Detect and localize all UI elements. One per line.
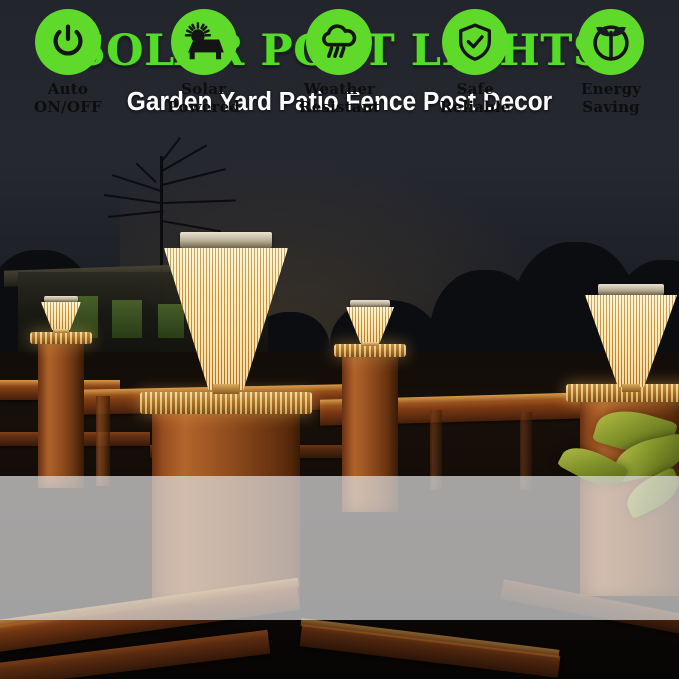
leaf-sprout-icon: [578, 9, 644, 75]
feature-label-line2: Reliable: [440, 98, 510, 116]
feature-label-line2: Powered: [167, 98, 240, 116]
feature-label-weather-resistant: Weather Resistant: [299, 80, 380, 117]
fence-post-left: [38, 338, 84, 488]
feature-solar-powered: Solar Powered: [136, 0, 272, 144]
feature-banner: [0, 476, 679, 620]
shield-check-icon: [442, 9, 508, 75]
lamp-center-large: [152, 232, 300, 396]
lit-window: [112, 300, 142, 338]
feature-label-auto-on-off: Auto ON/OFF: [34, 80, 102, 117]
feature-label-line1: Weather: [299, 80, 380, 98]
feature-safe-reliable: Safe Reliable: [407, 0, 543, 144]
power-icon: [35, 9, 101, 75]
feature-label-line1: Energy: [581, 80, 641, 98]
feature-auto-on-off: Auto ON/OFF: [0, 0, 136, 144]
product-poster: SOLAR POST LIGHTS Garden Yard Patio Fenc…: [0, 0, 679, 679]
feature-label-line1: Safe: [440, 80, 510, 98]
feature-label-line2: Saving: [581, 98, 641, 116]
feature-energy-saving: Energy Saving: [543, 0, 679, 144]
feature-label-solar-powered: Solar Powered: [167, 80, 240, 117]
fence-baluster: [96, 396, 110, 486]
solar-panel-sun-icon: [171, 9, 237, 75]
feature-label-line2: ON/OFF: [34, 98, 102, 116]
feature-label-line1: Solar: [167, 80, 240, 98]
feature-label-safe-reliable: Safe Reliable: [440, 80, 510, 117]
lamp-mid-right-small: [342, 300, 398, 348]
feature-label-energy-saving: Energy Saving: [581, 80, 641, 117]
feature-list: Auto ON/OFF: [0, 0, 679, 144]
feature-label-line1: Auto: [34, 80, 102, 98]
rain-cloud-icon: [306, 9, 372, 75]
lamp-left-small: [38, 296, 84, 336]
feature-label-line2: Resistant: [299, 98, 380, 116]
lamp-right-large: [576, 284, 679, 392]
feature-weather-resistant: Weather Resistant: [272, 0, 408, 144]
